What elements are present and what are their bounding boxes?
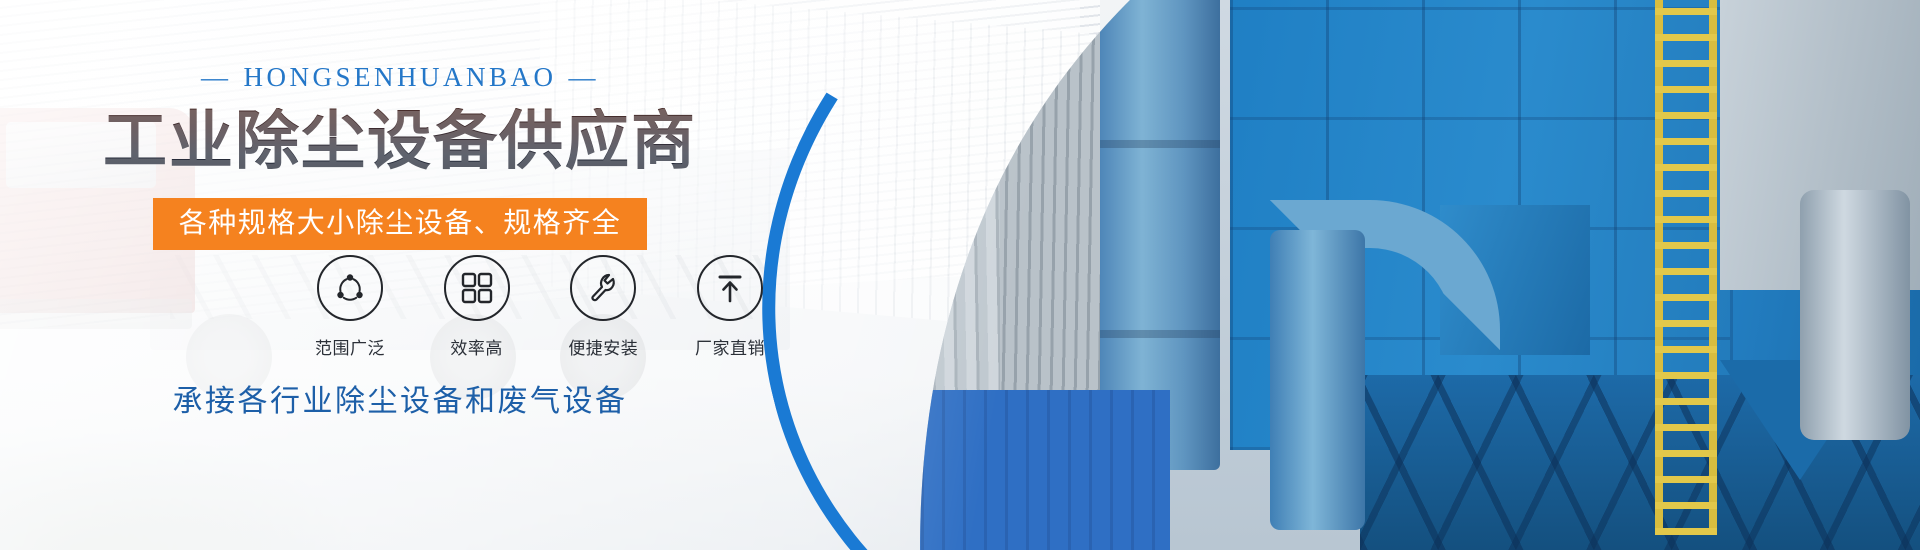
feature-label: 厂家直销 xyxy=(680,334,780,359)
feature-label: 便捷安装 xyxy=(553,334,653,359)
hero-banner: —HONGSENHUANBAO— 工业除尘设备供应商 各种规格大小除尘设备、规格… xyxy=(0,0,1920,550)
feature-label: 范围广泛 xyxy=(300,334,400,359)
dash-right: — xyxy=(557,62,612,93)
wrench-icon xyxy=(585,270,621,306)
hero-content: —HONGSENHUANBAO— 工业除尘设备供应商 各种规格大小除尘设备、规格… xyxy=(0,0,900,550)
feature-item-efficiency[interactable]: 效率高 xyxy=(427,255,527,359)
feature-item-factory-direct[interactable]: 厂家直销 xyxy=(680,255,780,359)
feature-icon-circle xyxy=(317,255,383,321)
brand-pinyin-subtitle: —HONGSENHUANBAO— xyxy=(0,62,800,93)
feature-item-install[interactable]: 便捷安装 xyxy=(553,255,653,359)
page-title: 工业除尘设备供应商 xyxy=(0,108,800,175)
brand-pinyin-text: HONGSENHUANBAO xyxy=(243,62,556,92)
arrow-up-bar-icon xyxy=(713,271,747,305)
feature-icon-circle xyxy=(697,255,763,321)
tagline: 承接各行业除尘设备和废气设备 xyxy=(0,376,800,420)
feature-label: 效率高 xyxy=(427,334,527,359)
grid-squares-icon xyxy=(460,271,494,305)
feature-list: 范围广泛 效率高 xyxy=(300,255,780,359)
ribbon-wrapper: 各种规格大小除尘设备、规格齐全 xyxy=(0,198,800,250)
feature-icon-circle xyxy=(570,255,636,321)
orange-ribbon-banner: 各种规格大小除尘设备、规格齐全 xyxy=(153,198,648,250)
feature-icon-circle xyxy=(444,255,510,321)
dash-left: — xyxy=(189,62,244,93)
scope-network-icon xyxy=(332,270,368,306)
feature-item-scope[interactable]: 范围广泛 xyxy=(300,255,400,359)
